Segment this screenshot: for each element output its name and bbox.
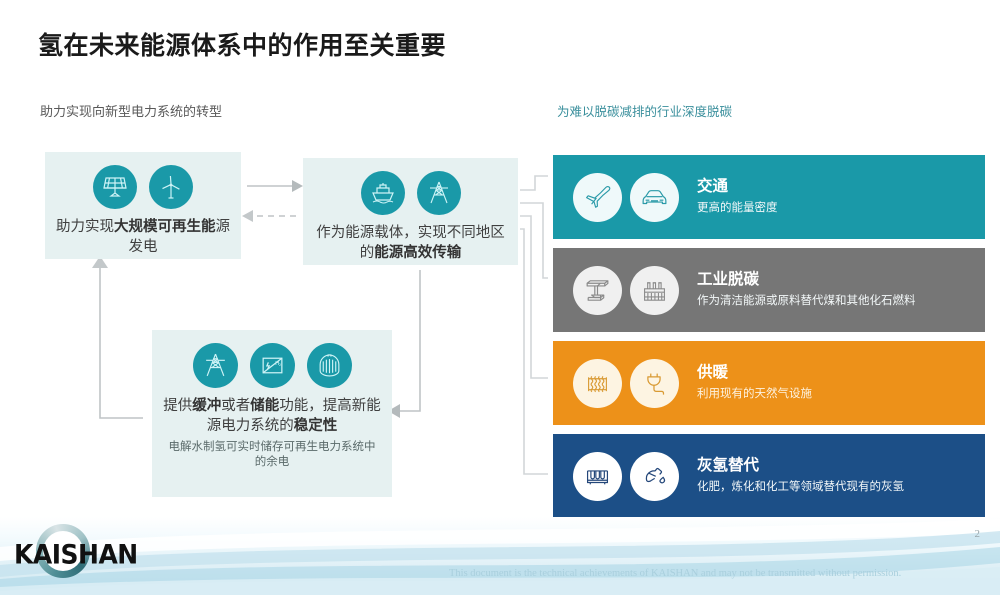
card-text: 供暖 利用现有的天然气设施 bbox=[679, 364, 824, 402]
flow-box-energy-carrier[interactable]: 作为能源载体，实现不同地区的能源高效传输 bbox=[303, 158, 518, 265]
solar-panel-icon bbox=[93, 165, 137, 209]
card-description: 利用现有的天然气设施 bbox=[697, 383, 812, 402]
factory-icon bbox=[630, 266, 679, 315]
card-text: 灰氢替代 化肥，炼化和化工等领域替代现有的灰氢 bbox=[679, 457, 916, 495]
page-number: 2 bbox=[975, 528, 981, 540]
fuel-nozzle-icon bbox=[630, 452, 679, 501]
slide-canvas: 氢在未来能源体系中的作用至关重要 助力实现向新型电力系统的转型 为难以脱碳减排的… bbox=[0, 0, 1000, 595]
text-post: 功能，提高 bbox=[279, 398, 352, 414]
text-bold-1: 缓冲 bbox=[192, 398, 221, 414]
sector-card-transport[interactable]: 交通 更高的能量密度 bbox=[553, 155, 985, 239]
airplane-icon bbox=[573, 173, 622, 222]
logo-wordmark: KAISHAN bbox=[14, 539, 138, 570]
disclaimer-text: This document is the technical achieveme… bbox=[449, 568, 901, 579]
car-icon bbox=[630, 173, 679, 222]
flow-box-text: 助力实现大规模可再生能源发电 bbox=[45, 209, 241, 257]
power-tower-icon bbox=[417, 171, 461, 215]
card-text: 交通 更高的能量密度 bbox=[679, 178, 790, 216]
icon-row bbox=[45, 152, 241, 209]
right-column-header: 为难以脱碳减排的行业深度脱碳 bbox=[557, 101, 732, 120]
left-column-header: 助力实现向新型电力系统的转型 bbox=[40, 101, 222, 120]
text-pre: 助力实现 bbox=[56, 219, 114, 235]
flow-box-subtext: 电解水制氢可实时储存可再生电力系统中的余电 bbox=[152, 436, 392, 470]
power-plug-icon bbox=[630, 359, 679, 408]
sector-card-grey-hydrogen-replacement[interactable]: 灰氢替代 化肥，炼化和化工等领域替代现有的灰氢 bbox=[553, 434, 985, 518]
sector-card-industrial-decarbonization[interactable]: 工业脱碳 作为清洁能源或原料替代煤和其他化石燃料 bbox=[553, 248, 985, 332]
svg-text:2: 2 bbox=[278, 363, 280, 367]
icon-row bbox=[553, 452, 679, 501]
text-bold: 大规模可再生能 bbox=[114, 219, 216, 235]
text-line2-bold: 稳定性 bbox=[294, 418, 338, 434]
test-tube-rack-icon bbox=[573, 452, 622, 501]
kaishan-logo: KAISHAN bbox=[8, 523, 156, 581]
text-pre: 提供 bbox=[163, 398, 192, 414]
flow-box-text: 提供缓冲或者储能功能，提高新能源电力系统的稳定性 bbox=[152, 388, 392, 436]
card-title: 灰氢替代 bbox=[697, 457, 904, 476]
page-title: 氢在未来能源体系中的作用至关重要 bbox=[38, 26, 446, 62]
wind-turbine-icon bbox=[149, 165, 193, 209]
text-bold-2: 储能 bbox=[250, 398, 279, 414]
icon-row bbox=[303, 158, 518, 215]
power-tower-icon bbox=[193, 343, 238, 388]
flow-box-text: 作为能源载体，实现不同地区的能源高效传输 bbox=[303, 215, 518, 263]
card-description: 更高的能量密度 bbox=[697, 197, 778, 216]
text-bold: 能源高效传输 bbox=[374, 245, 461, 261]
icon-row bbox=[553, 359, 679, 408]
card-title: 工业脱碳 bbox=[697, 271, 916, 290]
radiator-icon bbox=[573, 359, 622, 408]
hydrogen-electrolyzer-icon: H 2 bbox=[250, 343, 295, 388]
flow-box-buffer-storage[interactable]: H 2 提供缓冲或者储能功能，提高新能源电力系统的稳定性 电解水制氢可实时储存可… bbox=[152, 330, 392, 497]
card-description: 化肥，炼化和化工等领域替代现有的灰氢 bbox=[697, 476, 904, 495]
icon-row bbox=[553, 266, 679, 315]
card-title: 交通 bbox=[697, 178, 778, 197]
card-text: 工业脱碳 作为清洁能源或原料替代煤和其他化石燃料 bbox=[679, 271, 928, 309]
cargo-ship-icon bbox=[361, 171, 405, 215]
icon-row bbox=[553, 173, 679, 222]
card-description: 作为清洁能源或原料替代煤和其他化石燃料 bbox=[697, 290, 916, 309]
storage-tank-icon bbox=[307, 343, 352, 388]
steel-beam-icon bbox=[573, 266, 622, 315]
sector-card-heating[interactable]: 供暖 利用现有的天然气设施 bbox=[553, 341, 985, 425]
text-mid: 或者 bbox=[221, 398, 250, 414]
flow-box-renewable-generation[interactable]: 助力实现大规模可再生能源发电 bbox=[45, 152, 241, 259]
card-title: 供暖 bbox=[697, 364, 812, 383]
icon-row: H 2 bbox=[152, 330, 392, 388]
